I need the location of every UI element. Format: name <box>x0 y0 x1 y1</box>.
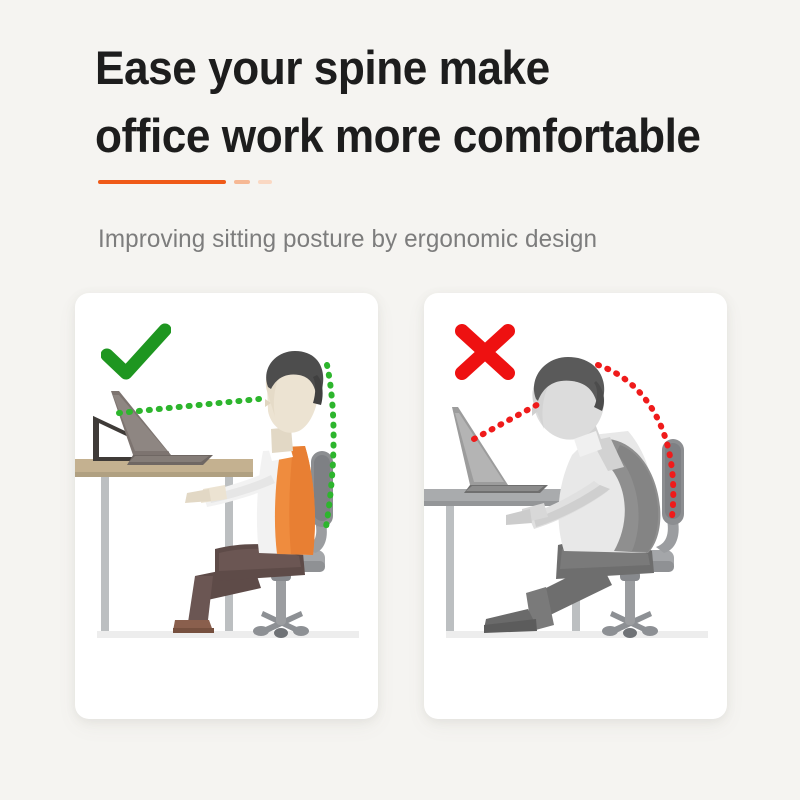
desk <box>75 459 253 631</box>
divider-dash-secondary <box>234 180 250 184</box>
card-good-posture[interactable] <box>75 293 378 719</box>
page-subtitle: Improving sitting posture by ergonomic d… <box>98 222 597 256</box>
eye-level-guide-line <box>119 399 259 413</box>
page-title-line2: office work more comfortable <box>95 102 734 170</box>
divider-dash-tertiary <box>258 180 272 184</box>
page-title-line1: Ease your spine make <box>95 34 734 102</box>
good-posture-illustration <box>75 343 378 673</box>
card-bad-posture[interactable] <box>424 293 727 719</box>
laptop <box>95 391 213 465</box>
person-good-posture <box>173 351 323 633</box>
eye-level-warning-line <box>474 401 544 439</box>
laptop <box>452 407 548 493</box>
divider-dash-primary <box>98 180 226 184</box>
floor-line <box>97 631 359 638</box>
comparison-cards <box>75 293 727 719</box>
poster-root: Ease your spine make office work more co… <box>0 0 800 800</box>
title-divider <box>98 180 272 184</box>
header: Ease your spine make office work more co… <box>95 34 775 170</box>
bad-posture-illustration <box>424 343 727 673</box>
